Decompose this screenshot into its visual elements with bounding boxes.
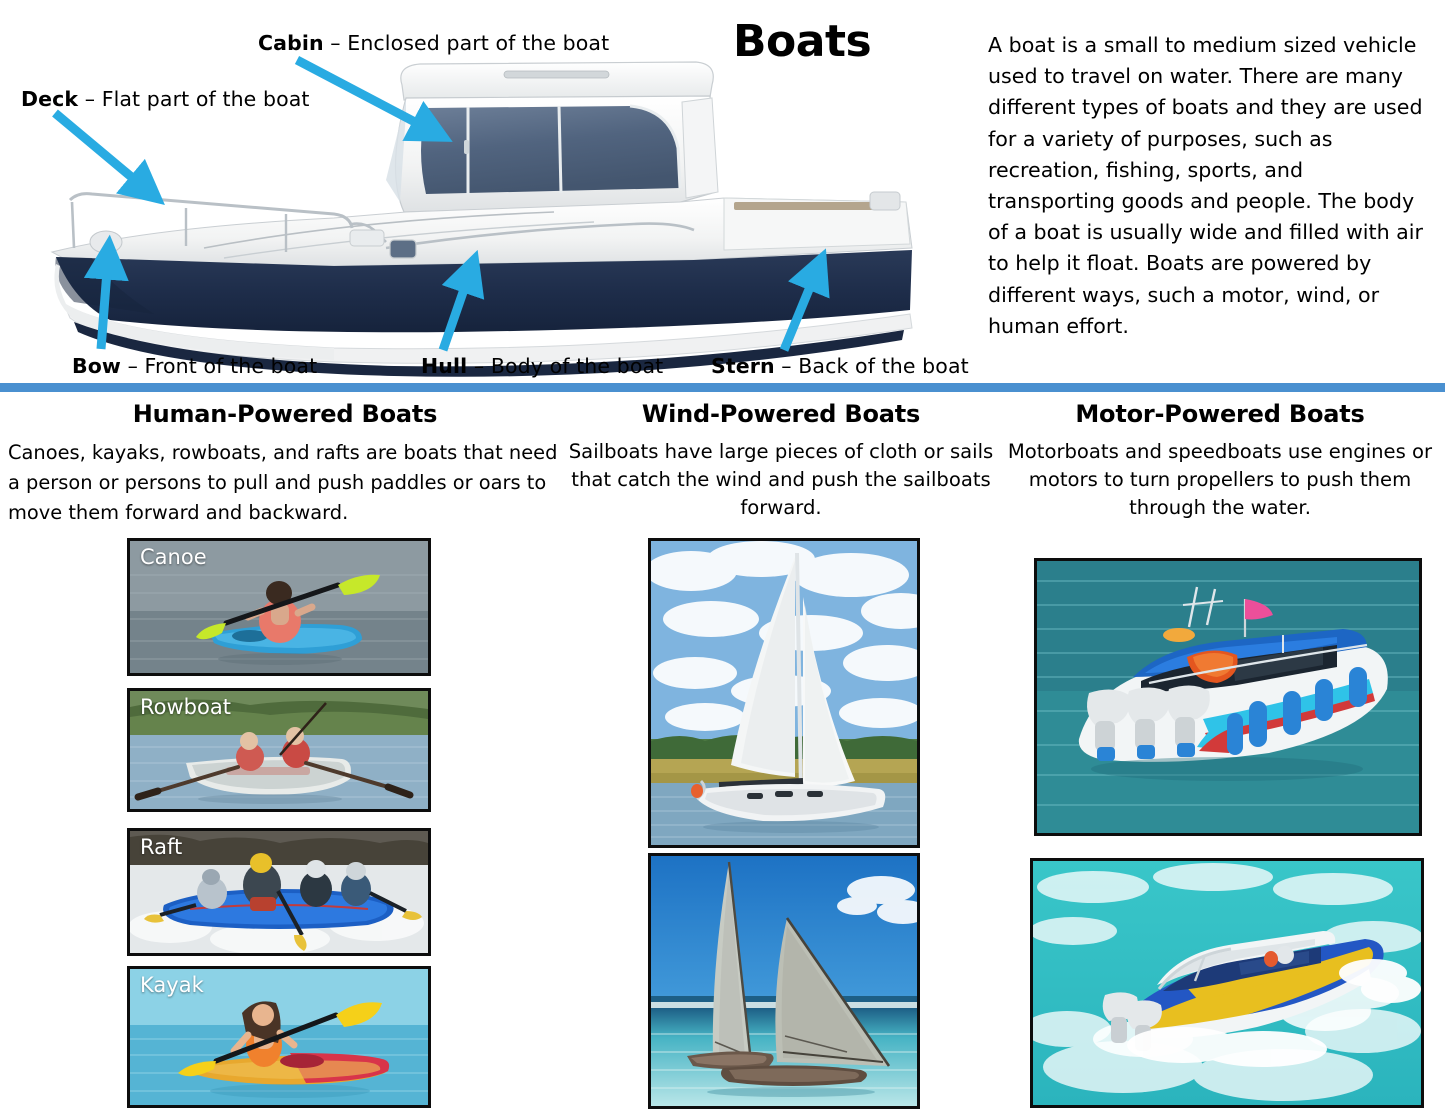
label-deck-term: Deck — [21, 87, 78, 111]
intro-paragraph: A boat is a small to medium sized vehicl… — [988, 30, 1426, 342]
photo-caption-kayak: Kayak — [140, 973, 204, 997]
column-wind-powered: Wind-Powered Boats Sailboats have large … — [566, 400, 996, 522]
label-deck-dash: – — [78, 87, 102, 111]
photo-motorboat-outboards — [1034, 558, 1422, 836]
label-hull-term: Hull — [421, 354, 467, 378]
photo-rowboat: Rowboat — [127, 688, 431, 812]
label-stern-dash: – — [775, 354, 799, 378]
column-human-powered: Human-Powered Boats Canoes, kayaks, rowb… — [8, 400, 562, 528]
label-stern-desc: Back of the boat — [798, 354, 968, 378]
column-body-human: Canoes, kayaks, rowboats, and rafts are … — [8, 438, 562, 528]
boats-poster: Boats A boat is a small to medium sized … — [0, 0, 1445, 1117]
label-stern: Stern – Back of the boat — [711, 354, 969, 378]
label-hull-dash: – — [467, 354, 491, 378]
photo-motorboat-speedboat — [1030, 858, 1424, 1108]
label-cabin: Cabin – Enclosed part of the boat — [258, 31, 609, 55]
photo-sailboat-dhow — [648, 853, 920, 1109]
photo-caption-rowboat: Rowboat — [140, 695, 231, 719]
label-stern-term: Stern — [711, 354, 775, 378]
photo-sailboat-sloop — [648, 538, 920, 848]
photo-canoe: Canoe — [127, 538, 431, 676]
photo-caption-canoe: Canoe — [140, 545, 207, 569]
label-hull-desc: Body of the boat — [491, 354, 663, 378]
label-bow: Bow – Front of the boat — [72, 354, 317, 378]
column-body-wind: Sailboats have large pieces of cloth or … — [566, 438, 996, 522]
section-divider — [0, 383, 1445, 392]
label-deck-desc: Flat part of the boat — [102, 87, 310, 111]
label-cabin-dash: – — [324, 31, 348, 55]
label-cabin-desc: Enclosed part of the boat — [347, 31, 609, 55]
column-heading-wind: Wind-Powered Boats — [566, 400, 996, 428]
column-heading-motor: Motor-Powered Boats — [1000, 400, 1440, 428]
column-heading-human: Human-Powered Boats — [8, 400, 562, 428]
label-bow-dash: – — [121, 354, 145, 378]
column-body-motor: Motorboats and speedboats use engines or… — [1000, 438, 1440, 522]
label-bow-term: Bow — [72, 354, 121, 378]
photo-kayak: Kayak — [127, 966, 431, 1108]
label-deck: Deck – Flat part of the boat — [21, 87, 310, 111]
photo-raft: Raft — [127, 828, 431, 956]
column-motor-powered: Motor-Powered Boats Motorboats and speed… — [1000, 400, 1440, 522]
label-hull: Hull – Body of the boat — [421, 354, 663, 378]
label-bow-desc: Front of the boat — [145, 354, 318, 378]
photo-caption-raft: Raft — [140, 835, 182, 859]
label-cabin-term: Cabin — [258, 31, 324, 55]
